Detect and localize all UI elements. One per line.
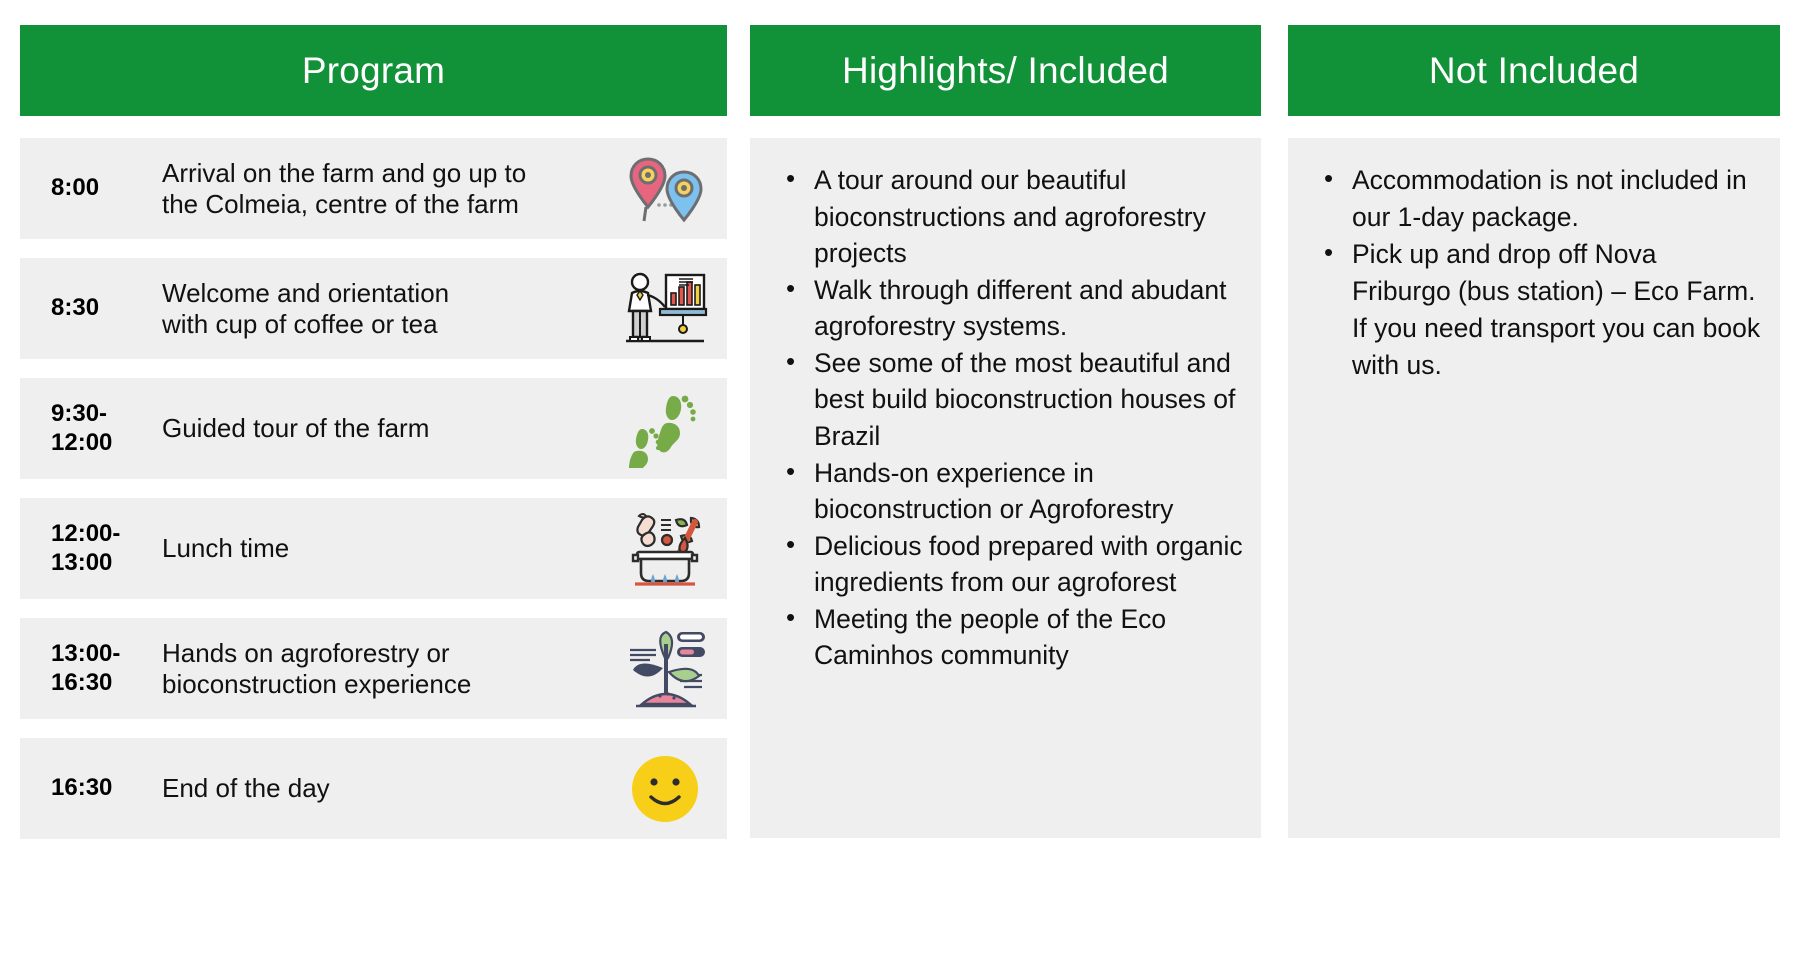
list-item: Hands-on experience in bioconstruction o…: [814, 455, 1243, 528]
row-description: Welcome and orientation with cup of coff…: [162, 278, 602, 339]
smiley-face-icon: [602, 754, 727, 824]
highlights-bullet-list: A tour around our beautiful bioconstruct…: [768, 162, 1243, 674]
table-row[interactable]: 12:00- 13:00 Lunch time: [20, 498, 727, 599]
highlights-column: Highlights/ Included A tour around our b…: [750, 25, 1261, 838]
list-item: Delicious food prepared with organic ing…: [814, 528, 1243, 601]
table-row[interactable]: 9:30- 12:00 Guided tour of the farm: [20, 378, 727, 479]
highlights-header-title: Highlights/ Included: [842, 52, 1169, 89]
presentation-icon: [602, 271, 727, 347]
row-time: 12:00- 13:00: [20, 520, 162, 576]
seedling-icon: [602, 628, 727, 710]
not-included-column: Not Included Accommodation is not includ…: [1288, 25, 1780, 838]
row-description: Lunch time: [162, 533, 602, 563]
program-row-list: 8:00 Arrival on the farm and go up to th…: [20, 138, 727, 839]
slide-canvas: Program 8:00 Arrival on the farm and go …: [0, 0, 1806, 978]
row-time: 16:30: [20, 774, 162, 802]
row-time: 13:00- 16:30: [20, 640, 162, 696]
list-item: Accommodation is not included in our 1-d…: [1352, 162, 1762, 236]
row-time: 8:30: [20, 294, 162, 322]
row-time: 9:30- 12:00: [20, 400, 162, 456]
list-item: Pick up and drop off Nova Friburgo (bus …: [1352, 236, 1762, 384]
not-included-column-header: Not Included: [1288, 25, 1780, 116]
table-row[interactable]: 16:30 End of the day: [20, 738, 727, 839]
table-row[interactable]: 8:00 Arrival on the farm and go up to th…: [20, 138, 727, 239]
row-description: Arrival on the farm and go up to the Col…: [162, 158, 602, 219]
row-description: Guided tour of the farm: [162, 413, 602, 443]
map-pins-icon: [602, 153, 727, 225]
row-description: Hands on agroforestry or bioconstruction…: [162, 638, 602, 699]
list-item: Walk through different and abudant agrof…: [814, 272, 1243, 345]
cooking-pot-icon: [602, 508, 727, 590]
not-included-bullet-list: Accommodation is not included in our 1-d…: [1306, 162, 1762, 385]
table-row[interactable]: 8:30 Welcome and orientation with cup of…: [20, 258, 727, 359]
row-time: 8:00: [20, 174, 162, 202]
program-column: Program 8:00 Arrival on the farm and go …: [20, 25, 727, 839]
list-item: See some of the most beautiful and best …: [814, 345, 1243, 455]
highlights-column-header: Highlights/ Included: [750, 25, 1261, 116]
row-description: End of the day: [162, 773, 602, 803]
program-column-header: Program: [20, 25, 727, 116]
not-included-header-title: Not Included: [1429, 52, 1639, 89]
highlights-panel: A tour around our beautiful bioconstruct…: [750, 138, 1261, 838]
not-included-panel: Accommodation is not included in our 1-d…: [1288, 138, 1780, 838]
program-header-title: Program: [302, 52, 445, 89]
footprints-icon: [602, 390, 727, 468]
table-row[interactable]: 13:00- 16:30 Hands on agroforestry or bi…: [20, 618, 727, 719]
list-item: A tour around our beautiful bioconstruct…: [814, 162, 1243, 272]
list-item: Meeting the people of the Eco Caminhos c…: [814, 601, 1243, 674]
